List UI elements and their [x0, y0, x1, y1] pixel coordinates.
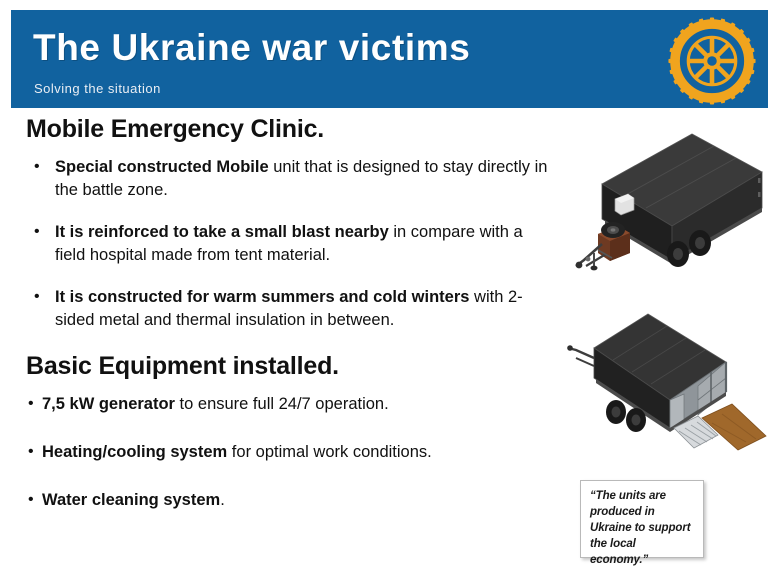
page-subtitle: Solving the situation — [34, 81, 161, 96]
mobile-clinic-trailer-open-with-ramp-image — [566, 300, 771, 455]
list-item-text: to ensure full 24/7 operation. — [175, 395, 389, 413]
list-item-text: for optimal work conditions. — [227, 443, 432, 461]
bullet-dot-icon: • — [28, 489, 34, 511]
bullet-dot-icon: • — [34, 156, 40, 179]
list-item-bold-text: Water cleaning system — [42, 491, 220, 509]
bullet-dot-icon: • — [34, 286, 40, 309]
list-item: • Water cleaning system. — [26, 489, 556, 511]
page-title: The Ukraine war victims — [33, 26, 470, 70]
list-item: • It is constructed for warm summers and… — [26, 286, 556, 331]
list-item: • Special constructed Mobile unit that i… — [26, 156, 556, 201]
list-item-bold-text: Special constructed Mobile — [55, 158, 269, 176]
list-item: • It is reinforced to take a small blast… — [26, 221, 556, 266]
list-item: • Heating/cooling system for optimal wor… — [26, 441, 556, 463]
mobile-clinic-trailer-closed-image — [572, 126, 768, 286]
section-heading-basic-equipment: Basic Equipment installed. — [26, 351, 556, 381]
list-item-bold-text: It is reinforced to take a small blast n… — [55, 223, 389, 241]
bullet-dot-icon: • — [28, 441, 34, 463]
bullet-dot-icon: • — [34, 221, 40, 244]
list-item-text: . — [220, 491, 225, 509]
slide-body-text-column: Mobile Emergency Clinic. • Special const… — [26, 114, 556, 537]
clinic-bullet-list: • Special constructed Mobile unit that i… — [26, 156, 556, 331]
quote-text: “The units are produced in Ukraine to su… — [590, 488, 695, 568]
presentation-slide: The Ukraine war victims Solving the situ… — [0, 0, 774, 571]
list-item-bold-text: Heating/cooling system — [42, 443, 227, 461]
list-item-bold-text: 7,5 kW generator — [42, 395, 175, 413]
quote-callout-box: “The units are produced in Ukraine to su… — [580, 480, 704, 558]
list-item: • 7,5 kW generator to ensure full 24/7 o… — [26, 393, 556, 415]
section-heading-mobile-emergency-clinic: Mobile Emergency Clinic. — [26, 114, 556, 144]
rotary-international-logo — [668, 17, 756, 105]
slide-header-band: The Ukraine war victims Solving the situ… — [11, 10, 768, 108]
bullet-dot-icon: • — [28, 393, 34, 415]
equipment-bullet-list: • 7,5 kW generator to ensure full 24/7 o… — [26, 393, 556, 511]
list-item-bold-text: It is constructed for warm summers and c… — [55, 288, 469, 306]
